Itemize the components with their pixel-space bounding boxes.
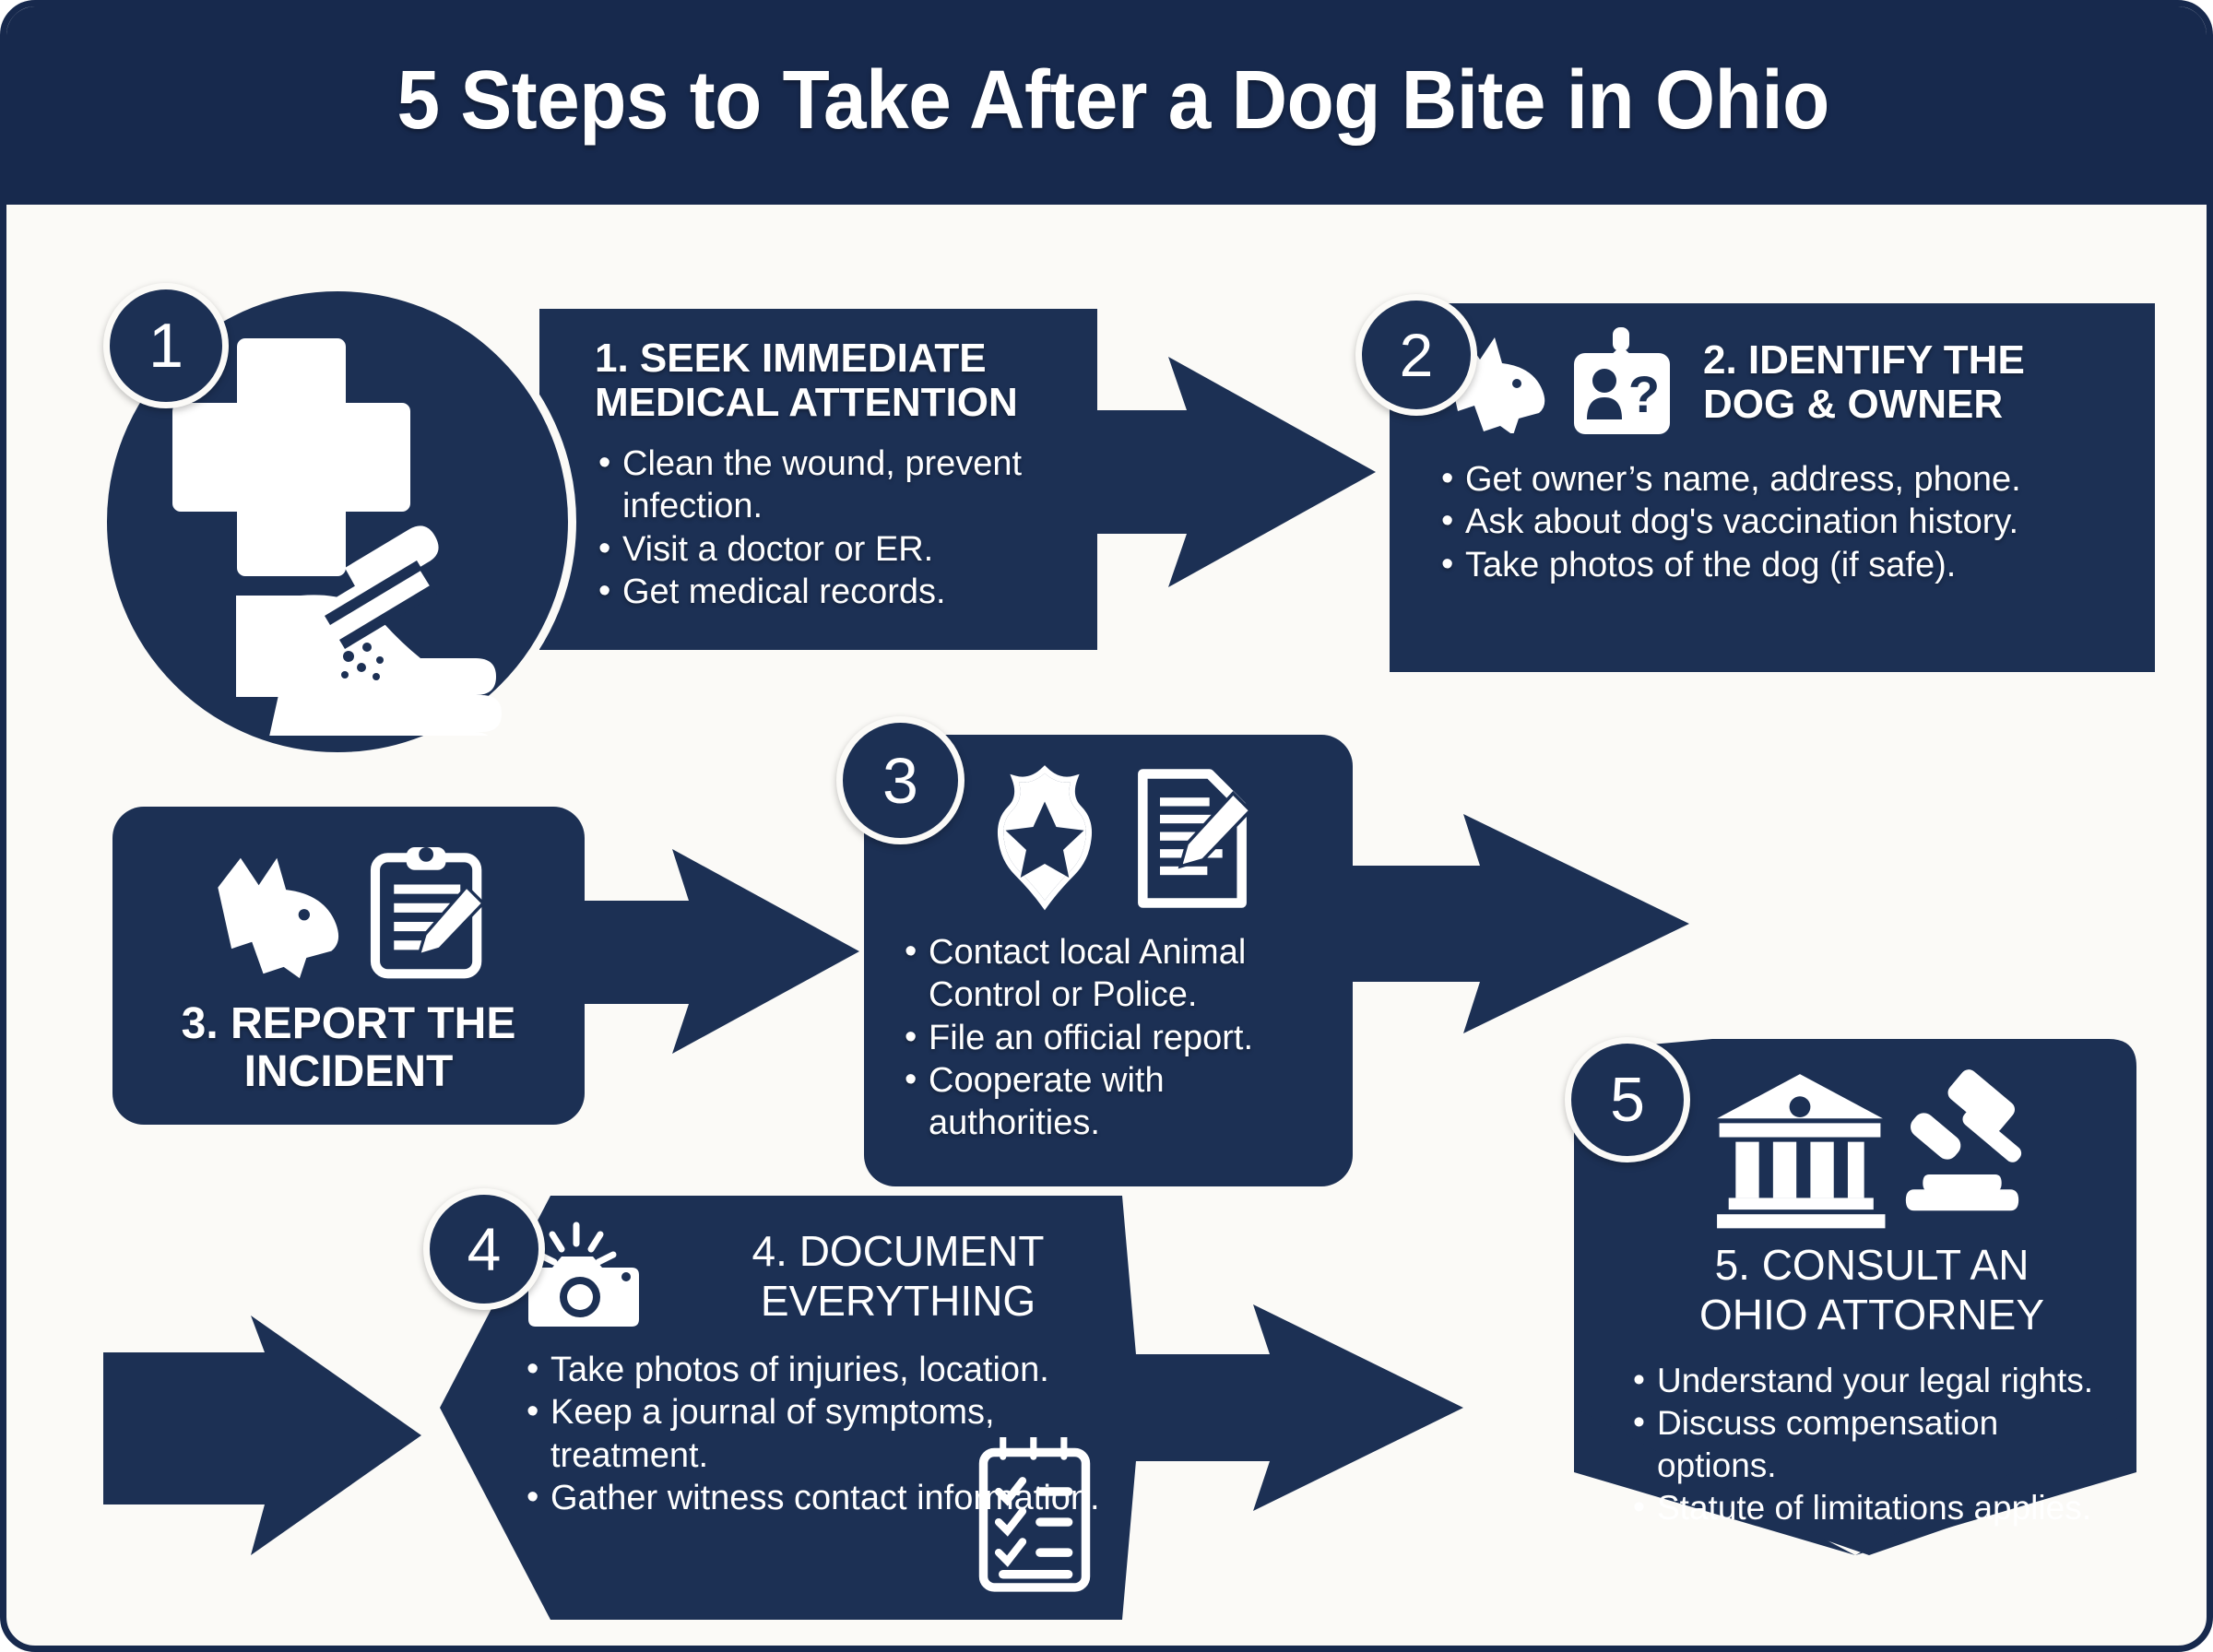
step-3-number: 3 xyxy=(882,744,918,818)
list-item: Ask about dog's vaccination history. xyxy=(1438,501,2127,543)
list-item: •Statute of limitations applies. xyxy=(1629,1487,2114,1529)
step-3-detail-icon-row xyxy=(901,762,1331,914)
step-4-panel: 4. DOCUMENT EVERYTHING •Take photos of i… xyxy=(440,1196,1141,1620)
header-bar: 5 Steps to Take After a Dog Bite in Ohio xyxy=(0,0,2213,205)
arrow-step4-to-step5 xyxy=(1095,1288,1482,1528)
step-5-icon-row xyxy=(1629,1067,2114,1233)
list-item: Cooperate with authorities. xyxy=(901,1059,1331,1145)
step-3-title: 3. REPORT THE INCIDENT xyxy=(112,1000,585,1096)
list-item: •Take photos of injuries, location. xyxy=(523,1349,1117,1391)
id-badge-question-icon: ? xyxy=(1563,327,1683,438)
step-5-badge: 5 xyxy=(1565,1037,1690,1162)
page-title: 5 Steps to Take After a Dog Bite in Ohio xyxy=(396,53,1828,148)
step-3-bullets: Contact local Animal Control or Police. … xyxy=(901,931,1331,1145)
checklist-notepad-icon xyxy=(975,1437,1095,1594)
list-item: Get owner’s name, address, phone. xyxy=(1438,458,2127,501)
arrow-step1-to-step2 xyxy=(1048,338,1380,606)
step-4-badge: 4 xyxy=(423,1188,545,1310)
step-3-icon-row xyxy=(112,840,585,987)
list-item: Take photos of the dog (if safe). xyxy=(1438,544,2127,586)
document-pencil-icon xyxy=(1128,762,1257,914)
dog-head-icon xyxy=(207,844,354,983)
step-2-bullets: Get owner’s name, address, phone. Ask ab… xyxy=(1438,458,2127,586)
step-5-number: 5 xyxy=(1610,1064,1645,1136)
step-2-badge: 2 xyxy=(1355,294,1477,416)
step-4-number: 4 xyxy=(467,1214,502,1284)
step-2-icon-row: ? 2. IDENTIFY THE DOG & OWNER xyxy=(1438,327,2127,438)
gavel-icon xyxy=(1893,1069,2031,1231)
list-item: Clean the wound, prevent infection. xyxy=(595,442,1071,528)
step-1-number: 1 xyxy=(148,310,183,382)
step-5-bullets: •Understand your legal rights. •Discuss … xyxy=(1629,1360,2114,1529)
step-1-badge: 1 xyxy=(103,283,229,408)
courthouse-icon xyxy=(1712,1069,1888,1231)
arrow-step3-to-step5 xyxy=(1325,799,1694,1048)
step-5-title: 5. CONSULT AN OHIO ATTORNEY xyxy=(1629,1240,2114,1339)
step-1-panel: 1. SEEK IMMEDIATE MEDICAL ATTENTION Clea… xyxy=(539,309,1097,650)
step-3-label-panel: 3. REPORT THE INCIDENT xyxy=(112,807,585,1125)
step-2-title: 2. IDENTIFY THE DOG & OWNER xyxy=(1703,338,2025,426)
list-item: Visit a doctor or ER. xyxy=(595,528,1071,571)
step-4-title: 4. DOCUMENT EVERYTHING xyxy=(680,1226,1117,1326)
step-4-icon-row: 4. DOCUMENT EVERYTHING xyxy=(523,1220,1117,1332)
step-3-badge: 3 xyxy=(836,716,964,844)
infographic-canvas: 5 Steps to Take After a Dog Bite in Ohio xyxy=(0,0,2213,1652)
police-badge-icon xyxy=(975,762,1115,914)
clipboard-pencil-icon xyxy=(367,844,491,983)
arrow-step3label-to-step3detail xyxy=(560,836,864,1067)
step-2-panel: ? 2. IDENTIFY THE DOG & OWNER Get owner’… xyxy=(1390,303,2155,672)
arrow-into-step4 xyxy=(103,1316,472,1555)
step-1-bullets: Clean the wound, prevent infection. Visi… xyxy=(595,442,1071,613)
list-item: •Understand your legal rights. xyxy=(1629,1360,2114,1402)
list-item: Contact local Animal Control or Police. xyxy=(901,931,1331,1017)
list-item: •Discuss compensation options. xyxy=(1629,1402,2114,1487)
step-2-number: 2 xyxy=(1400,320,1434,390)
svg-text:?: ? xyxy=(1628,365,1660,423)
step-1-title: 1. SEEK IMMEDIATE MEDICAL ATTENTION xyxy=(595,336,1071,424)
list-item: Get medical records. xyxy=(595,571,1071,613)
list-item: File an official report. xyxy=(901,1017,1331,1059)
